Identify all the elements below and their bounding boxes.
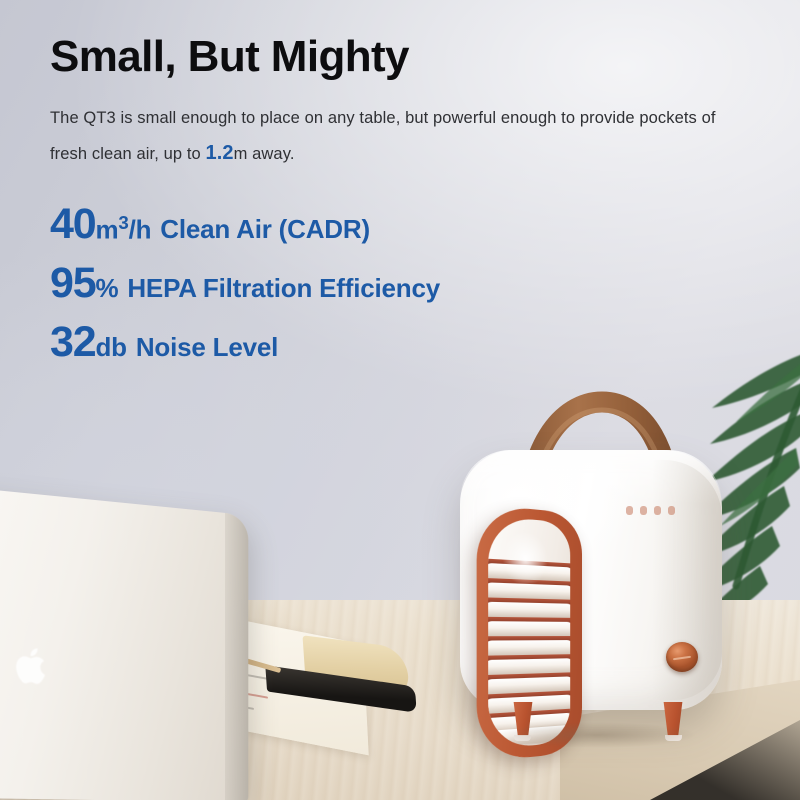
stat-number: 32	[50, 317, 95, 368]
paragraph-text-start: The QT3 is small enough to place on any …	[50, 109, 716, 163]
stat-unit: m3/h	[95, 212, 151, 246]
marketing-copy-block: Small, But Mighty The QT3 is small enoug…	[50, 34, 770, 376]
power-button-knob[interactable]	[666, 642, 698, 672]
description-paragraph: The QT3 is small enough to place on any …	[50, 102, 750, 173]
stat-row-cadr: 40 m3/h Clean Air (CADR)	[50, 199, 770, 250]
product-marketing-image: Small, But Mighty The QT3 is small enoug…	[0, 0, 800, 800]
paragraph-highlight-value: 1.2	[205, 142, 233, 164]
apple-logo-icon	[13, 641, 53, 690]
cooler-body	[460, 450, 722, 710]
cooler-drop-shadow	[466, 718, 728, 752]
stat-label: HEPA Filtration Efficiency	[127, 273, 440, 304]
stat-unit: db	[95, 332, 126, 363]
grille-highlight	[503, 530, 548, 587]
stat-unit-main: db	[95, 332, 126, 362]
laptop-edge	[225, 513, 248, 800]
stat-label: Noise Level	[136, 332, 278, 363]
stat-unit-rest: /h	[129, 214, 152, 244]
air-cooler-product	[440, 400, 740, 740]
laptop	[0, 483, 248, 800]
paragraph-text-end: m away.	[234, 145, 295, 163]
stat-row-noise: 32 db Noise Level	[50, 317, 770, 368]
stat-unit: %	[95, 273, 118, 304]
stat-number: 95	[50, 258, 95, 309]
stat-number: 40	[50, 199, 95, 250]
stat-unit-superscript: 3	[118, 212, 128, 233]
stat-row-hepa: 95 % HEPA Filtration Efficiency	[50, 258, 770, 309]
stat-unit-main: m	[95, 214, 118, 244]
top-vent-holes	[626, 506, 688, 518]
stat-label: Clean Air (CADR)	[160, 214, 370, 245]
stat-unit-main: %	[95, 273, 118, 303]
page-title: Small, But Mighty	[50, 34, 770, 80]
stats-list: 40 m3/h Clean Air (CADR) 95 % HEPA Filtr…	[50, 199, 770, 367]
